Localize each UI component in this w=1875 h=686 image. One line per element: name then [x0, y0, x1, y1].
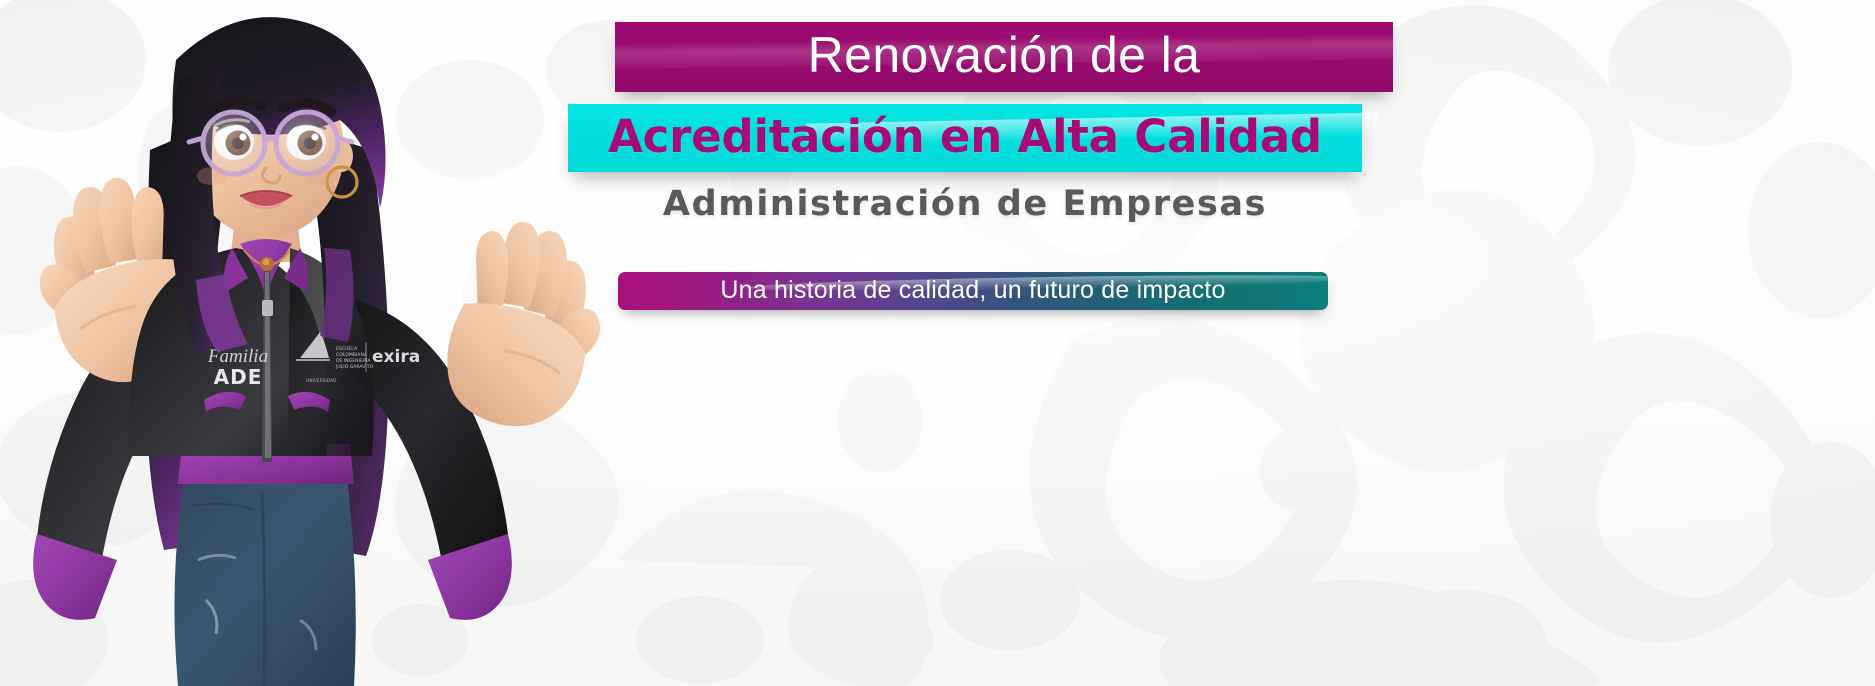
- title-text: Renovación de la: [615, 22, 1393, 92]
- svg-text:UNIVERSIDAD: UNIVERSIDAD: [306, 378, 337, 384]
- headline-group: Renovación de la Acreditación en Alta Ca…: [560, 0, 1875, 420]
- tagline-text: Una historia de calidad, un futuro de im…: [618, 272, 1328, 310]
- jacket-bold-label: ADE: [214, 365, 263, 389]
- svg-text:COLOMBIANA: COLOMBIANA: [336, 352, 368, 358]
- svg-text:JULIO GARAVITO: JULIO GARAVITO: [335, 364, 374, 370]
- title-banner: Renovación de la: [615, 22, 1393, 92]
- tagline-pill: Una historia de calidad, un futuro de im…: [618, 272, 1328, 310]
- subtitle-text: Acreditación en Alta Calidad: [568, 104, 1362, 172]
- subtitle-banner: Acreditación en Alta Calidad: [568, 104, 1362, 172]
- svg-text:exira: exira: [372, 347, 420, 367]
- svg-text:ESCUELA: ESCUELA: [336, 346, 358, 352]
- banner-canvas: Familia ADE ESCUELA COLOMBIANA DE INGENI…: [0, 0, 1875, 686]
- program-name-text: Administración de Empresas: [568, 180, 1362, 228]
- mascot-character: Familia ADE ESCUELA COLOMBIANA DE INGENI…: [0, 0, 600, 686]
